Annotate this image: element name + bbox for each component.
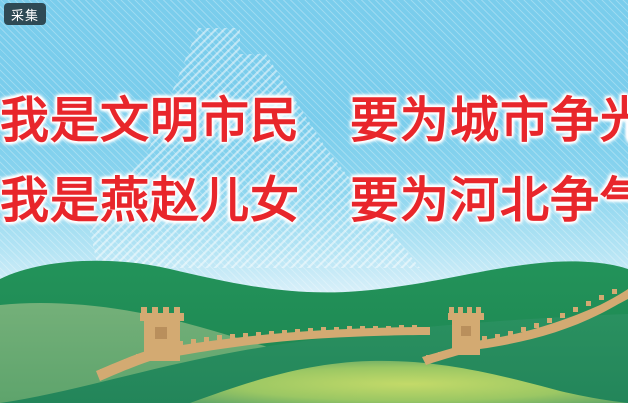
capture-button[interactable]: 采集 xyxy=(4,3,46,25)
headline-block: 我是文明市民 要为城市争光 我是燕赵儿女 要为河北争气 xyxy=(0,96,628,225)
poster-canvas: 我是文明市民 要为城市争光 我是燕赵儿女 要为河北争气 采集 xyxy=(0,0,628,403)
headline-line-1: 我是文明市民 要为城市争光 xyxy=(0,96,628,145)
headline-line-2: 我是燕赵儿女 要为河北争气 xyxy=(0,176,628,225)
landscape-illustration xyxy=(0,243,628,403)
